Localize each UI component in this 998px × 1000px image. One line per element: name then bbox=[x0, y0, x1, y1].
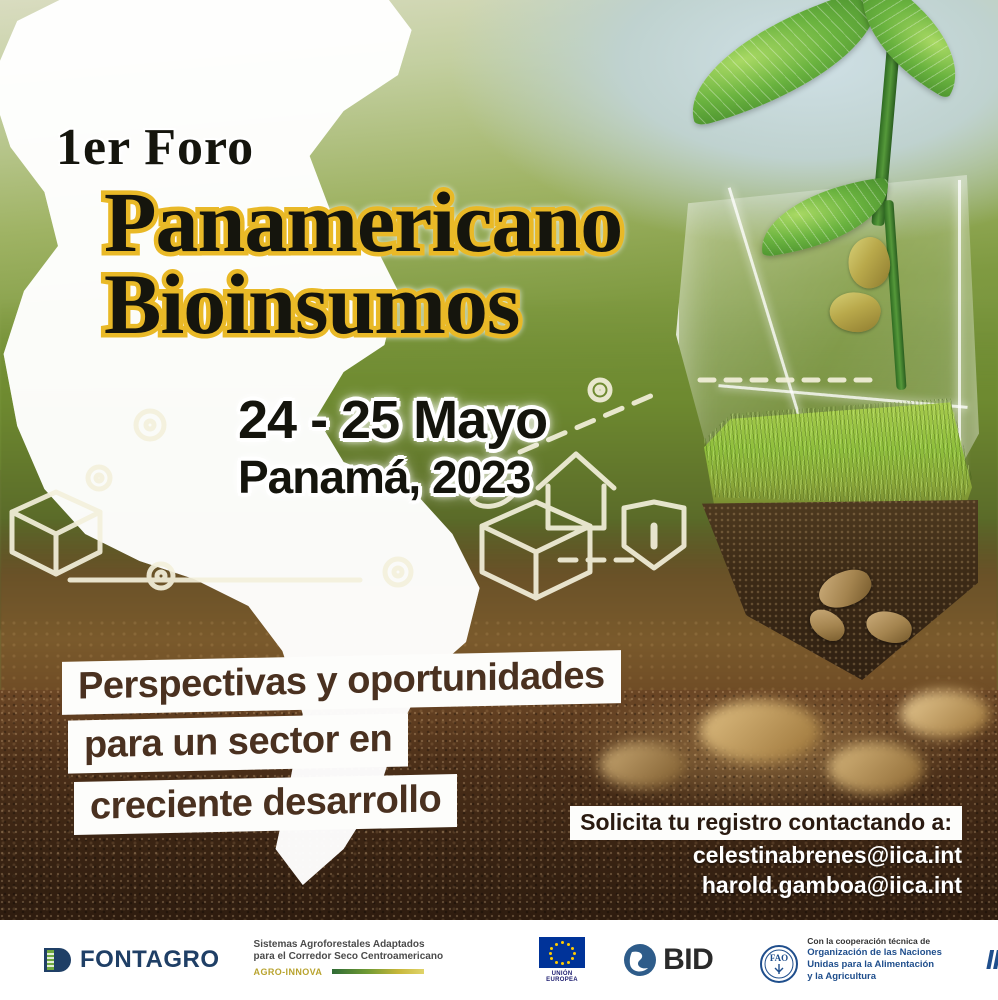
leaf-vein-lines bbox=[672, 0, 898, 127]
event-date: 24 - 25 Mayo bbox=[238, 390, 547, 450]
agro-innova-line-1: Sistemas Agroforestales Adaptados bbox=[254, 939, 444, 951]
fao-name-line-1: Organización de las Naciones bbox=[807, 947, 942, 959]
eu-caption: UNIÓN EUROPEA bbox=[539, 971, 585, 983]
logo-iica: IICA bbox=[986, 944, 998, 976]
bid-wordmark: BID bbox=[663, 943, 713, 977]
bid-swirl-icon bbox=[623, 943, 657, 977]
fao-seal-icon: FAO bbox=[759, 944, 799, 984]
event-date-block: 24 - 25 Mayo Panamá, 2023 bbox=[238, 390, 547, 504]
contact-email[interactable]: harold.gamboa@iica.int bbox=[570, 870, 962, 900]
contact-email[interactable]: celestinabrenes@iica.int bbox=[570, 840, 962, 870]
green-seedling-icon bbox=[672, 0, 898, 127]
eu-flag-icon bbox=[539, 937, 585, 968]
poster: 1er Foro Panamericano Bioinsumos 24 - 25… bbox=[0, 0, 998, 1000]
svg-text:FAO: FAO bbox=[770, 953, 788, 963]
logo-agro-innova: Sistemas Agroforestales Adaptados para e… bbox=[254, 939, 444, 981]
fao-name-line-3: y la Agricultura bbox=[807, 971, 942, 983]
fao-cooperation-label: Con la cooperación técnica de bbox=[807, 936, 942, 947]
contact-block: Solicita tu registro contactando a: cele… bbox=[570, 806, 962, 900]
eyebrow-label: 1er Foro bbox=[56, 119, 254, 176]
page-title-line-2: Bioinsumos bbox=[104, 254, 519, 354]
agro-innova-line-2: para el Corredor Seco Centroamericano bbox=[254, 951, 444, 963]
fontagro-wordmark: FONTAGRO bbox=[80, 946, 220, 974]
title-line-2-label: Bioinsumos bbox=[104, 256, 519, 352]
tagline-block: Perspectivas y oportunidades para un sec… bbox=[62, 656, 621, 839]
glass-vessel-with-seedling bbox=[658, 0, 998, 780]
iica-wordmark: IICA bbox=[986, 944, 998, 976]
tagline-line: creciente desarrollo bbox=[74, 774, 457, 835]
fontagro-leaf-icon bbox=[42, 945, 72, 975]
agro-innova-gradient-bar bbox=[332, 969, 424, 974]
fao-name-line-2: Unidas para la Alimentación bbox=[807, 959, 942, 971]
tagline-line: Perspectivas y oportunidades bbox=[62, 650, 621, 715]
tagline-line: para un sector en bbox=[68, 713, 408, 773]
logo-fao: FAO Con la cooperación técnica de Organi… bbox=[759, 936, 942, 984]
contact-heading: Solicita tu registro contactando a: bbox=[570, 806, 962, 840]
logo-fontagro: FONTAGRO bbox=[42, 945, 220, 975]
agro-innova-wordmark: AGRO-INNOVA bbox=[254, 967, 323, 977]
logo-bid: BID bbox=[623, 943, 713, 977]
eyebrow-text: 1er Foro bbox=[56, 118, 254, 177]
logo-european-union: UNIÓN EUROPEA bbox=[539, 937, 585, 983]
event-place: Panamá, 2023 bbox=[238, 450, 547, 504]
footer-logo-band: FONTAGRO Sistemas Agroforestales Adaptad… bbox=[0, 920, 998, 1000]
